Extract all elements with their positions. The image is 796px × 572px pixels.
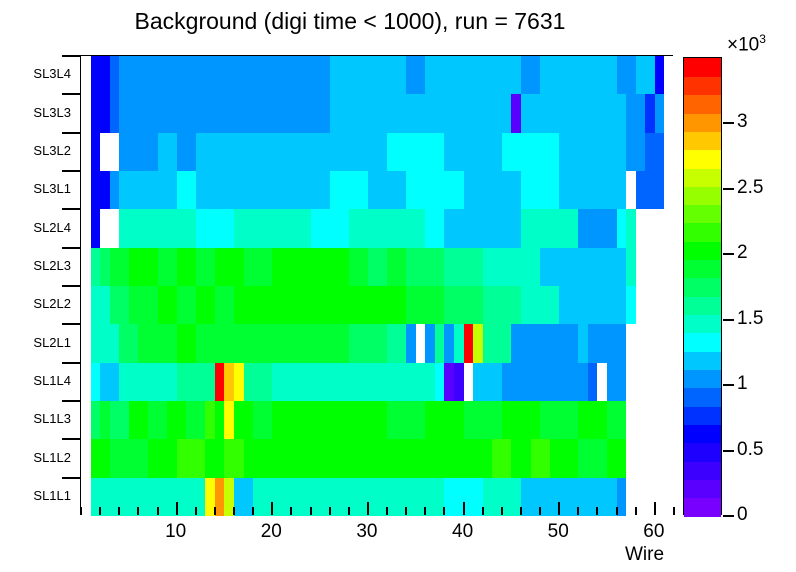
heatmap-cell bbox=[454, 324, 464, 363]
heatmap-cell bbox=[597, 171, 626, 210]
color-scale-tick-label-2: 2 bbox=[737, 242, 748, 264]
y-axis-tick bbox=[62, 323, 80, 325]
x-axis-major-tick bbox=[271, 502, 273, 515]
heatmap-cell bbox=[81, 133, 91, 172]
heatmap-cell bbox=[119, 478, 148, 517]
heatmap-cell bbox=[626, 478, 674, 517]
heatmap-cell bbox=[444, 133, 502, 172]
color-scale-segment bbox=[684, 406, 721, 425]
heatmap-cell bbox=[607, 401, 627, 440]
x-axis-minor-tick bbox=[195, 507, 197, 515]
color-scale-segment bbox=[684, 351, 721, 370]
color-scale-tick-label-2.5: 2.5 bbox=[737, 177, 763, 199]
heatmap-cell bbox=[368, 286, 407, 325]
heatmap-cell bbox=[81, 363, 91, 402]
heatmap-cell bbox=[196, 324, 216, 363]
heatmap-cell bbox=[311, 401, 350, 440]
chart-title: Background (digi time < 1000), run = 763… bbox=[0, 8, 700, 35]
heatmap-cell bbox=[272, 248, 311, 287]
heatmap-cell bbox=[110, 171, 120, 210]
heatmap-cell bbox=[167, 401, 187, 440]
color-scale-tick bbox=[723, 319, 734, 321]
y-axis-tick bbox=[62, 208, 80, 210]
y-axis-tick bbox=[62, 247, 80, 249]
heatmap-cell bbox=[502, 133, 560, 172]
heatmap-cell bbox=[81, 209, 91, 248]
heatmap-cell bbox=[626, 286, 636, 325]
heatmap-cell bbox=[91, 401, 101, 440]
heatmap-cell bbox=[578, 401, 607, 440]
heatmap-cell bbox=[253, 286, 292, 325]
y-axis-tick bbox=[62, 132, 80, 134]
heatmap-cell bbox=[626, 324, 674, 363]
heatmap-cell bbox=[617, 56, 637, 95]
heatmap-cell bbox=[578, 439, 607, 478]
heatmap-cell bbox=[349, 324, 369, 363]
color-scale-segment bbox=[684, 424, 721, 443]
heatmap-cell bbox=[617, 478, 627, 517]
heatmap-cell bbox=[511, 324, 531, 363]
heatmap-cell bbox=[550, 439, 579, 478]
heatmap-cell bbox=[464, 324, 474, 363]
y-axis-tick-label-sl3l4: SL3L4 bbox=[0, 66, 71, 81]
color-scale-segment bbox=[684, 388, 721, 407]
heatmap-cell bbox=[607, 439, 627, 478]
heatmap-cell bbox=[100, 324, 120, 363]
heatmap-cell bbox=[464, 94, 503, 133]
heatmap-cell bbox=[559, 94, 598, 133]
heatmap-cell bbox=[100, 133, 120, 172]
heatmap-cell bbox=[148, 439, 177, 478]
x-axis-tick-label-50: 50 bbox=[518, 521, 598, 543]
y-axis-tick-label-sl2l3: SL2L3 bbox=[0, 258, 71, 273]
heatmap-cell bbox=[540, 56, 579, 95]
x-axis-minor-tick bbox=[118, 507, 120, 515]
heatmap-cell bbox=[531, 324, 579, 363]
heatmap-cell bbox=[578, 324, 588, 363]
heatmap-cell bbox=[196, 363, 216, 402]
y-axis-tick-label-sl3l3: SL3L3 bbox=[0, 105, 71, 120]
x-axis-tick-label-60: 60 bbox=[614, 521, 694, 543]
x-axis-minor-tick bbox=[329, 507, 331, 515]
heatmap-cell bbox=[578, 363, 588, 402]
heatmap-cell bbox=[205, 439, 225, 478]
x-axis-minor-tick bbox=[137, 507, 139, 515]
heatmap-cell bbox=[664, 171, 674, 210]
heatmap-cell bbox=[368, 248, 388, 287]
heatmap-cell bbox=[444, 363, 454, 402]
heatmap-cell bbox=[129, 286, 158, 325]
color-scale-segment bbox=[684, 131, 721, 150]
heatmap-cell bbox=[330, 56, 369, 95]
heatmap-cell bbox=[110, 439, 149, 478]
heatmap-cell bbox=[119, 324, 139, 363]
heatmap-cell bbox=[626, 94, 646, 133]
heatmap-cell bbox=[578, 56, 617, 95]
heatmap-cell bbox=[617, 209, 627, 248]
heatmap-cell bbox=[158, 324, 178, 363]
x-axis-minor-tick bbox=[482, 507, 484, 515]
heatmap-cell bbox=[253, 324, 292, 363]
heatmap-cell bbox=[368, 94, 407, 133]
x-axis-minor-tick bbox=[310, 507, 312, 515]
heatmap-cell bbox=[81, 324, 91, 363]
heatmap-cell bbox=[425, 56, 445, 95]
heatmap-cell bbox=[91, 133, 101, 172]
heatmap-cell bbox=[81, 171, 91, 210]
y-axis-tick bbox=[62, 285, 80, 287]
heatmap-cell bbox=[272, 401, 311, 440]
heatmap-cell bbox=[626, 133, 646, 172]
heatmap-cell bbox=[234, 286, 254, 325]
heatmap-cell bbox=[244, 248, 273, 287]
y-axis-tick bbox=[62, 400, 80, 402]
heatmap-cell bbox=[435, 363, 445, 402]
heatmap-cell bbox=[655, 94, 665, 133]
x-axis-minor-tick bbox=[501, 507, 503, 515]
color-scale-segment bbox=[684, 223, 721, 242]
heatmap-cell bbox=[521, 171, 560, 210]
color-scale-tick-label-0: 0 bbox=[737, 504, 748, 526]
x-axis-minor-tick bbox=[405, 507, 407, 515]
heatmap-cell bbox=[119, 363, 177, 402]
heatmap-cell bbox=[224, 401, 234, 440]
heatmap-cell bbox=[177, 286, 197, 325]
heatmap-cell bbox=[626, 401, 674, 440]
heatmap-cell bbox=[349, 209, 388, 248]
color-scale-segment bbox=[684, 241, 721, 260]
heatmap-cell bbox=[540, 401, 579, 440]
x-axis-minor-tick bbox=[596, 507, 598, 515]
color-scale-segment bbox=[684, 113, 721, 132]
x-axis-major-tick bbox=[367, 502, 369, 515]
color-scale-tick bbox=[723, 515, 734, 517]
heatmap-cell bbox=[607, 363, 627, 402]
heatmap-cell bbox=[196, 209, 235, 248]
heatmap-plot-area[interactable] bbox=[80, 55, 673, 515]
color-scale-segment bbox=[684, 296, 721, 315]
y-axis-tick bbox=[62, 93, 80, 95]
color-scale-segment bbox=[684, 58, 721, 77]
y-axis-tick-label-sl2l2: SL2L2 bbox=[0, 296, 71, 311]
heatmap-cell bbox=[406, 171, 464, 210]
heatmap-cell bbox=[301, 56, 330, 95]
heatmap-cell bbox=[444, 286, 483, 325]
heatmap-cell bbox=[454, 363, 464, 402]
heatmap-cell bbox=[119, 209, 196, 248]
heatmap-cell bbox=[234, 401, 254, 440]
x-axis-minor-tick bbox=[214, 507, 216, 515]
heatmap-cell bbox=[119, 133, 158, 172]
heatmap-cell bbox=[502, 94, 512, 133]
color-scale-tick-label-0.5: 0.5 bbox=[737, 439, 763, 461]
heatmap-cell bbox=[330, 171, 369, 210]
color-scale-exponent: ×103 bbox=[727, 32, 766, 56]
heatmap-cell bbox=[349, 248, 369, 287]
heatmap-cell bbox=[464, 439, 493, 478]
heatmap-cell bbox=[578, 248, 626, 287]
heatmap-cell bbox=[626, 171, 636, 210]
heatmap-cell bbox=[425, 248, 445, 287]
heatmap-cell bbox=[81, 478, 91, 517]
heatmap-cell bbox=[636, 171, 656, 210]
x-axis-minor-tick bbox=[290, 507, 292, 515]
heatmap-cell bbox=[158, 133, 178, 172]
heatmap-cell bbox=[186, 401, 206, 440]
x-axis-minor-tick bbox=[233, 507, 235, 515]
heatmap-cell bbox=[636, 56, 656, 95]
heatmap-cell bbox=[521, 56, 541, 95]
heatmap-cell bbox=[626, 209, 636, 248]
heatmap-cell bbox=[578, 209, 598, 248]
heatmap-cell bbox=[330, 286, 369, 325]
color-scale-segment bbox=[684, 479, 721, 498]
heatmap-cell bbox=[311, 248, 350, 287]
heatmap-cell bbox=[655, 171, 665, 210]
heatmap-cell bbox=[664, 56, 674, 95]
heatmap-cell bbox=[425, 401, 464, 440]
heatmap-cell bbox=[196, 171, 292, 210]
heatmap-cell bbox=[196, 133, 273, 172]
heatmap-cell bbox=[119, 94, 330, 133]
heatmap-cell bbox=[91, 94, 111, 133]
heatmap-cell bbox=[540, 248, 579, 287]
heatmap-cell bbox=[636, 248, 675, 287]
x-axis-minor-tick bbox=[539, 507, 541, 515]
color-scale-segment bbox=[684, 461, 721, 480]
heatmap-cell bbox=[291, 324, 330, 363]
heatmap-cell bbox=[664, 94, 674, 133]
color-scale-tick-label-1.5: 1.5 bbox=[737, 308, 763, 330]
y-axis-tick bbox=[62, 170, 80, 172]
heatmap-cell bbox=[406, 286, 445, 325]
heatmap-cell bbox=[119, 171, 177, 210]
y-axis-tick bbox=[62, 438, 80, 440]
heatmap-cell bbox=[215, 248, 244, 287]
heatmap-cell bbox=[272, 209, 311, 248]
x-axis-minor-tick bbox=[80, 507, 82, 515]
heatmap-cell bbox=[626, 439, 674, 478]
x-axis-major-tick bbox=[176, 502, 178, 515]
x-axis-major-tick bbox=[463, 502, 465, 515]
heatmap-cell bbox=[91, 171, 111, 210]
heatmap-cell bbox=[531, 439, 551, 478]
heatmap-cell bbox=[244, 439, 273, 478]
x-axis-minor-tick bbox=[424, 507, 426, 515]
heatmap-cell bbox=[349, 439, 388, 478]
exponent-power: 3 bbox=[759, 32, 766, 46]
color-scale-bar[interactable] bbox=[683, 57, 722, 515]
heatmap-cell bbox=[330, 94, 369, 133]
heatmap-cell bbox=[368, 363, 407, 402]
x-axis-minor-tick bbox=[252, 507, 254, 515]
heatmap-cell bbox=[158, 248, 178, 287]
heatmap-cell bbox=[349, 401, 388, 440]
heatmap-cell bbox=[406, 94, 445, 133]
heatmap-cell bbox=[464, 401, 503, 440]
heatmap-cell bbox=[664, 133, 674, 172]
heatmap-cell bbox=[425, 209, 445, 248]
heatmap-cell bbox=[81, 439, 91, 478]
heatmap-cell bbox=[81, 286, 91, 325]
x-axis-minor-tick bbox=[577, 507, 579, 515]
heatmap-cell bbox=[224, 363, 234, 402]
y-axis-tick bbox=[62, 362, 80, 364]
heatmap-cell bbox=[291, 286, 330, 325]
exponent-base: ×10 bbox=[727, 34, 759, 55]
heatmap-cell bbox=[406, 324, 416, 363]
heatmap-cell bbox=[559, 286, 598, 325]
heatmap-cell bbox=[244, 363, 273, 402]
heatmap-cell bbox=[205, 401, 215, 440]
heatmap-cell bbox=[521, 286, 560, 325]
color-scale-segment bbox=[684, 278, 721, 297]
x-axis-tick-label-10: 10 bbox=[136, 521, 216, 543]
heatmap-cell bbox=[492, 439, 512, 478]
heatmap-cell bbox=[645, 133, 665, 172]
color-scale-segment bbox=[684, 95, 721, 114]
heatmap-cell bbox=[81, 94, 91, 133]
heatmap-cell bbox=[588, 363, 598, 402]
heatmap-cell bbox=[406, 248, 426, 287]
x-axis-minor-tick bbox=[635, 507, 637, 515]
heatmap-cell bbox=[597, 286, 626, 325]
heatmap-cell bbox=[129, 248, 158, 287]
color-scale-tick-label-3: 3 bbox=[737, 111, 748, 133]
x-axis-minor-tick bbox=[386, 507, 388, 515]
x-axis-tick-label-20: 20 bbox=[231, 521, 311, 543]
heatmap-cell bbox=[91, 248, 101, 287]
heatmap-cell bbox=[444, 248, 483, 287]
y-axis-tick-label-sl1l3: SL1L3 bbox=[0, 411, 71, 426]
heatmap-cell bbox=[234, 209, 273, 248]
heatmap-cell bbox=[645, 94, 655, 133]
y-axis-tick bbox=[62, 477, 80, 479]
color-scale-segment bbox=[684, 369, 721, 388]
heatmap-cell bbox=[138, 324, 158, 363]
color-scale-tick bbox=[723, 450, 734, 452]
heatmap-cell bbox=[425, 439, 464, 478]
heatmap-cell bbox=[387, 209, 426, 248]
heatmap-cell bbox=[597, 363, 607, 402]
x-axis-minor-tick bbox=[443, 507, 445, 515]
heatmap-cell bbox=[368, 171, 407, 210]
heatmap-cell bbox=[444, 324, 454, 363]
heatmap-cell bbox=[196, 248, 216, 287]
heatmap-cell bbox=[129, 401, 149, 440]
heatmap-cell bbox=[473, 324, 483, 363]
heatmap-cell bbox=[81, 248, 91, 287]
heatmap-cell bbox=[655, 56, 665, 95]
x-axis-major-tick bbox=[654, 502, 656, 515]
y-axis-tick-label-sl2l1: SL2L1 bbox=[0, 335, 71, 350]
heatmap-cell bbox=[511, 439, 531, 478]
heatmap-cell bbox=[597, 94, 626, 133]
heatmap-cell bbox=[521, 248, 541, 287]
heatmap-cell bbox=[626, 248, 636, 287]
heatmap-cell bbox=[91, 324, 101, 363]
heatmap-cell bbox=[588, 324, 627, 363]
color-scale-segment bbox=[684, 443, 721, 462]
heatmap-cell bbox=[110, 56, 120, 95]
heatmap-cell bbox=[148, 401, 168, 440]
heatmap-cell bbox=[406, 56, 426, 95]
heatmap-cell bbox=[177, 439, 206, 478]
heatmap-cell bbox=[464, 363, 474, 402]
heatmap-cell bbox=[483, 286, 522, 325]
heatmap-cell bbox=[100, 248, 110, 287]
heatmap-cell bbox=[368, 324, 388, 363]
color-scale-segment bbox=[684, 314, 721, 333]
heatmap-cell bbox=[224, 439, 244, 478]
x-axis-tick-label-30: 30 bbox=[327, 521, 407, 543]
x-axis-minor-tick bbox=[673, 507, 675, 515]
heatmap-cell bbox=[559, 171, 598, 210]
root-canvas: Background (digi time < 1000), run = 763… bbox=[0, 0, 796, 572]
heatmap-cell bbox=[91, 439, 111, 478]
heatmap-cell bbox=[387, 248, 407, 287]
heatmap-cell bbox=[253, 401, 273, 440]
heatmap-cell bbox=[368, 56, 407, 95]
heatmap-cell bbox=[502, 401, 541, 440]
heatmap-cell bbox=[119, 56, 301, 95]
color-scale-tick bbox=[723, 188, 734, 190]
x-axis-title: Wire bbox=[625, 544, 664, 566]
heatmap-cell bbox=[110, 94, 120, 133]
color-scale-tick bbox=[723, 253, 734, 255]
heatmap-cell bbox=[215, 401, 225, 440]
y-axis-tick-label-sl2l4: SL2L4 bbox=[0, 220, 71, 235]
x-axis-minor-tick bbox=[99, 507, 101, 515]
y-axis-tick-label-sl3l2: SL3L2 bbox=[0, 143, 71, 158]
heatmap-cell bbox=[215, 363, 225, 402]
color-scale-tick bbox=[723, 384, 734, 386]
heatmap-cell bbox=[272, 439, 311, 478]
heatmap-cell bbox=[559, 133, 598, 172]
heatmap-cell bbox=[435, 324, 445, 363]
heatmap-cell bbox=[177, 324, 197, 363]
x-axis-major-tick bbox=[558, 502, 560, 515]
color-scale-segment bbox=[684, 333, 721, 352]
heatmap-cell bbox=[483, 324, 512, 363]
heatmap-cell bbox=[406, 363, 435, 402]
heatmap-cell bbox=[521, 209, 560, 248]
heatmap-cell bbox=[91, 478, 120, 517]
heatmap-cell bbox=[215, 286, 235, 325]
heatmap-cell bbox=[636, 286, 675, 325]
color-scale-segment bbox=[684, 150, 721, 169]
heatmap-cell bbox=[81, 401, 91, 440]
color-scale-segment bbox=[684, 168, 721, 187]
y-axis-tick bbox=[62, 55, 80, 57]
heatmap-cell bbox=[387, 324, 407, 363]
heatmap-cell bbox=[215, 324, 235, 363]
color-scale-tick bbox=[723, 122, 734, 124]
heatmap-cells bbox=[81, 56, 672, 514]
heatmap-cell bbox=[387, 133, 445, 172]
heatmap-cell bbox=[502, 363, 541, 402]
heatmap-cell bbox=[91, 209, 101, 248]
y-axis-tick-label-sl1l2: SL1L2 bbox=[0, 450, 71, 465]
heatmap-cell bbox=[272, 133, 330, 172]
heatmap-cell bbox=[100, 401, 110, 440]
x-axis-minor-tick bbox=[157, 507, 159, 515]
heatmap-cell bbox=[311, 209, 350, 248]
heatmap-cell bbox=[626, 363, 674, 402]
heatmap-cell bbox=[291, 171, 330, 210]
heatmap-cell bbox=[387, 439, 426, 478]
heatmap-cell bbox=[148, 478, 187, 517]
